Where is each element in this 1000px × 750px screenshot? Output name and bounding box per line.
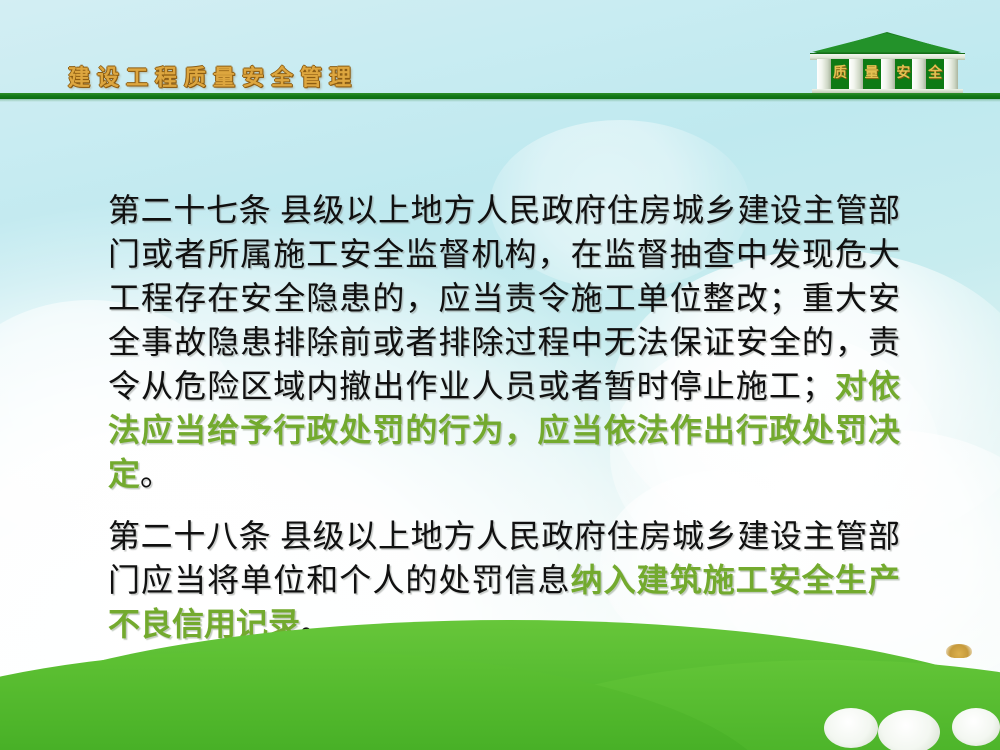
- logo-char-4: 全: [928, 67, 942, 81]
- sheep-icon: [952, 708, 1000, 746]
- temple-column-icon: [817, 59, 831, 89]
- sheep-icon: [824, 708, 878, 748]
- slide-canvas: 建设工程质量安全管理 质 量 安 全: [0, 0, 1000, 750]
- slide-header: 建设工程质量安全管理 质 量 安 全: [0, 0, 1000, 99]
- logo-char-slot: 量: [863, 59, 881, 89]
- text-run: 。: [300, 606, 332, 642]
- header-divider-shadow: [0, 99, 1000, 102]
- logo-char-slot: 全: [926, 59, 944, 89]
- paragraph-article-27: 第二十七条 县级以上地方人民政府住房城乡建设主管部门或者所属施工安全监督机构，在…: [108, 188, 900, 496]
- temple-column-icon: [912, 59, 926, 89]
- shrub-icon: [946, 644, 972, 658]
- logo-char-3: 安: [896, 67, 910, 81]
- paragraph-article-28: 第二十八条 县级以上地方人民政府住房城乡建设主管部门应当将单位和个人的处罚信息纳…: [108, 514, 900, 646]
- sheep-icon: [878, 710, 940, 750]
- text-run: 。: [140, 456, 172, 492]
- temple-colonnade-icon: 质 量 安 全: [817, 59, 958, 89]
- page-title: 建设工程质量安全管理: [68, 60, 358, 92]
- temple-column-icon: [944, 59, 958, 89]
- temple-column-icon: [881, 59, 895, 89]
- temple-column-icon: [849, 59, 863, 89]
- logo-char-1: 质: [833, 67, 847, 81]
- text-run: 第二十七条 县级以上地方人民政府住房城乡建设主管部门或者所属施工安全监督机构，在…: [108, 192, 900, 404]
- hill-right: [400, 660, 1000, 750]
- logo-char-slot: 质: [831, 59, 849, 89]
- quality-safety-temple-logo: 质 量 安 全: [810, 32, 965, 98]
- temple-pediment-icon: [812, 33, 961, 52]
- slide-body: 第二十七条 县级以上地方人民政府住房城乡建设主管部门或者所属施工安全监督机构，在…: [108, 188, 900, 646]
- logo-char-2: 量: [865, 67, 879, 81]
- logo-char-slot: 安: [895, 59, 913, 89]
- hill-front: [0, 650, 780, 750]
